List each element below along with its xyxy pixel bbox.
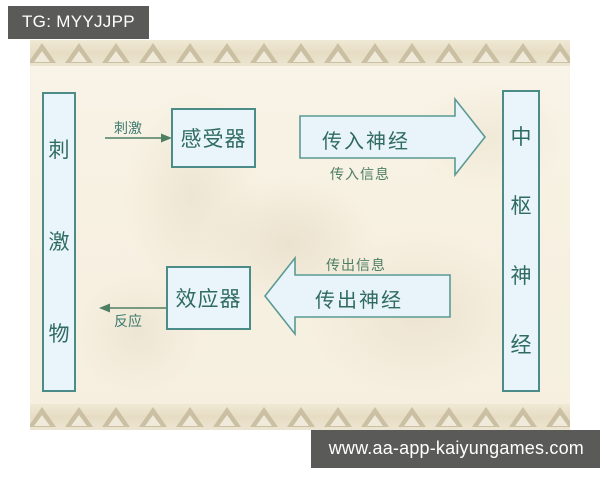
- stimulus-object-char: 刺: [49, 139, 70, 161]
- stimulus-arrow-label: 刺激: [114, 118, 142, 138]
- receptor-box[interactable]: 感受器: [171, 108, 256, 168]
- diagram-canvas: 刺 激 物 感受器 效应器 中 枢 神 经 刺激 反应 传入神经 传入信息 传出…: [30, 40, 570, 430]
- afferent-nerve-arrow-shape: [300, 99, 485, 175]
- stimulus-object-box[interactable]: 刺 激 物: [42, 92, 76, 392]
- central-nerve-box[interactable]: 中 枢 神 经: [502, 90, 540, 392]
- tg-watermark-badge: TG: MYYJJPP: [8, 6, 149, 39]
- effector-label: 效应器: [176, 283, 242, 313]
- central-nerve-char: 经: [511, 334, 532, 356]
- central-nerve-char: 枢: [511, 195, 532, 217]
- efferent-info-label: 传出信息: [326, 255, 386, 275]
- stimulus-object-char: 激: [49, 231, 70, 253]
- afferent-info-label: 传入信息: [330, 164, 390, 184]
- stimulus-object-char: 物: [49, 323, 70, 345]
- central-nerve-char: 神: [511, 265, 532, 287]
- response-arrow-label: 反应: [114, 311, 142, 331]
- url-watermark-badge: www.aa-app-kaiyungames.com: [311, 430, 600, 468]
- central-nerve-char: 中: [511, 126, 532, 148]
- receptor-label: 感受器: [181, 123, 247, 153]
- effector-box[interactable]: 效应器: [166, 266, 251, 330]
- diagram-vector-layer: [30, 40, 570, 430]
- screenshot-root: 刺 激 物 感受器 效应器 中 枢 神 经 刺激 反应 传入神经 传入信息 传出…: [0, 0, 600, 480]
